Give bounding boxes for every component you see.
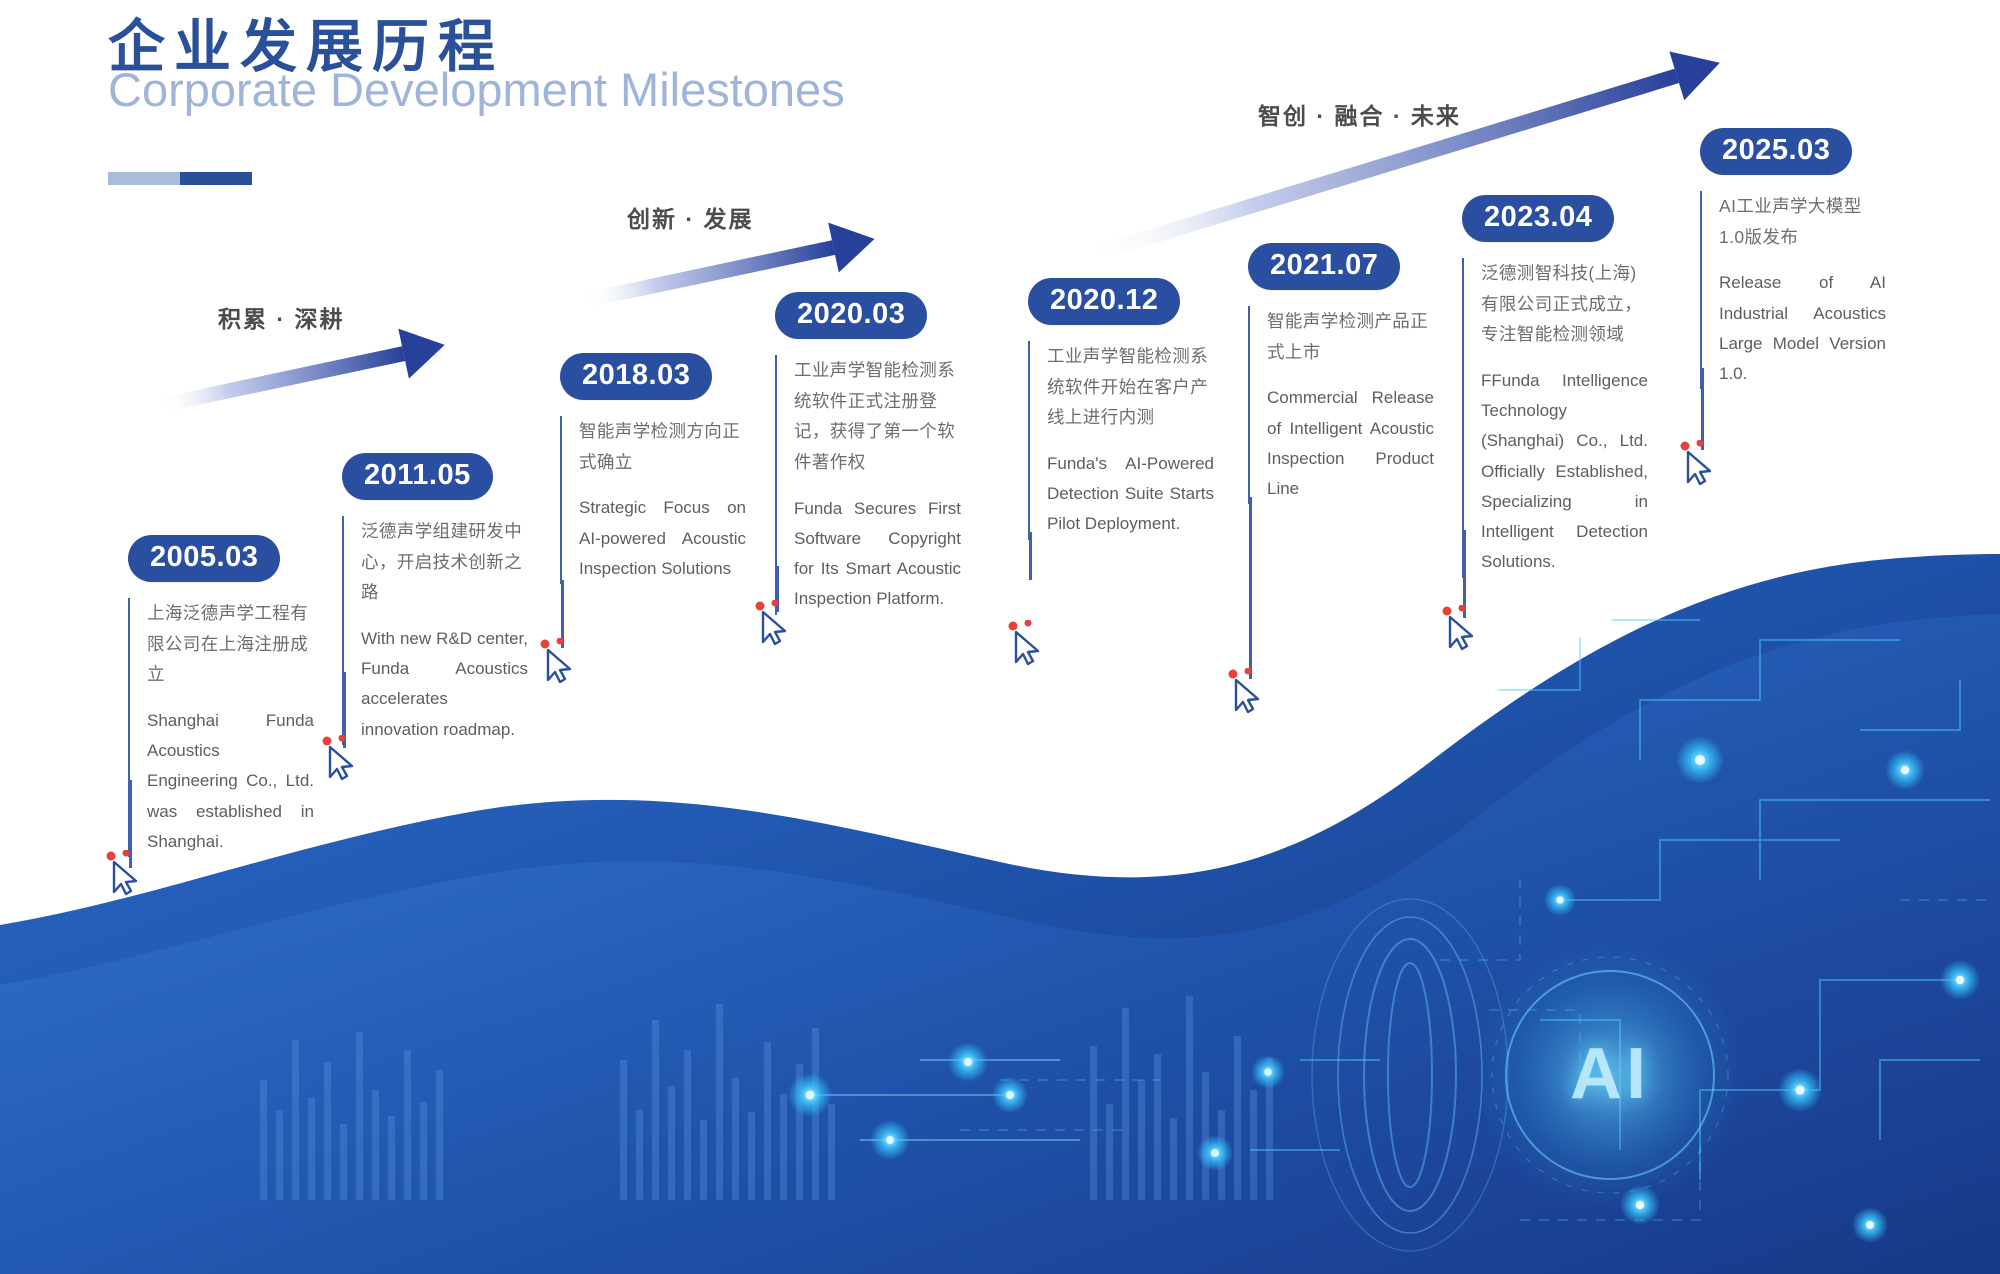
milestone-text-cn: AI工业声学大模型1.0版发布 bbox=[1719, 191, 1886, 252]
milestone-text-cn: 智能声学检测产品正式上市 bbox=[1267, 306, 1434, 367]
milestone-date-badge[interactable]: 2018.03 bbox=[560, 353, 712, 400]
milestone-text-en: With new R&D center, Funda Acoustics acc… bbox=[361, 624, 528, 745]
milestone-date-badge[interactable]: 2025.03 bbox=[1700, 128, 1852, 175]
milestone-date-badge[interactable]: 2011.05 bbox=[342, 453, 493, 500]
cursor-marker-2018 bbox=[538, 638, 578, 684]
milestone-body: 工业声学智能检测系统软件正式注册登记，获得了第一个软件著作权 Funda Sec… bbox=[775, 355, 961, 615]
milestone-text-cn: 泛德测智科技(上海)有限公司正式成立，专注智能检测领域 bbox=[1481, 258, 1648, 350]
cursor-marker-2011 bbox=[320, 735, 360, 781]
milestone-text-cn: 工业声学智能检测系统软件正式注册登记，获得了第一个软件著作权 bbox=[794, 355, 961, 478]
milestone-body: AI工业声学大模型1.0版发布 Release of AI Industrial… bbox=[1700, 191, 1886, 389]
milestone-2020-03[interactable]: 2020.03 工业声学智能检测系统软件正式注册登记，获得了第一个软件著作权 F… bbox=[775, 292, 961, 615]
title-rule-dark bbox=[180, 172, 252, 185]
milestone-text-cn: 智能声学检测方向正式确立 bbox=[579, 416, 746, 477]
cursor-marker-2020-12 bbox=[1006, 620, 1046, 666]
page-title-en: Corporate Development Milestones bbox=[108, 66, 845, 113]
milestone-body: 智能声学检测产品正式上市 Commercial Release of Intel… bbox=[1248, 306, 1434, 504]
milestone-text-en: Funda Secures First Software Copyright f… bbox=[794, 494, 961, 615]
milestone-body: 智能声学检测方向正式确立 Strategic Focus on AI-power… bbox=[560, 416, 746, 584]
cursor-marker-2005 bbox=[104, 850, 144, 896]
milestone-stem-2021 bbox=[1249, 497, 1252, 679]
ai-badge-text: AI bbox=[1530, 1022, 1690, 1126]
milestone-2023-04[interactable]: 2023.04 泛德测智科技(上海)有限公司正式成立，专注智能检测领域 FFun… bbox=[1462, 195, 1648, 578]
milestone-date-badge[interactable]: 2005.03 bbox=[128, 535, 280, 582]
milestone-body: 工业声学智能检测系统软件开始在客户产线上进行内测 Funda's AI-Powe… bbox=[1028, 341, 1214, 540]
milestone-2020-12[interactable]: 2020.12 工业声学智能检测系统软件开始在客户产线上进行内测 Funda's… bbox=[1028, 278, 1214, 540]
phase-tagline-3: 智创 · 融合 · 未来 bbox=[1258, 97, 1461, 131]
milestone-text-en: FFunda Intelligence Technology (Shanghai… bbox=[1481, 366, 1648, 578]
title-rule-light bbox=[108, 172, 180, 185]
milestone-text-en: Release of AI Industrial Acoustics Large… bbox=[1719, 268, 1886, 389]
milestone-text-en: Strategic Focus on AI-powered Acoustic I… bbox=[579, 493, 746, 584]
milestone-2005-03[interactable]: 2005.03 上海泛德声学工程有限公司在上海注册成立 Shanghai Fun… bbox=[128, 535, 314, 857]
milestone-text-cn: 泛德声学组建研发中心，开启技术创新之路 bbox=[361, 516, 528, 608]
milestone-2025-03[interactable]: 2025.03 AI工业声学大模型1.0版发布 Release of AI In… bbox=[1700, 128, 1886, 389]
cursor-marker-2021 bbox=[1226, 668, 1266, 714]
milestone-2011-05[interactable]: 2011.05 泛德声学组建研发中心，开启技术创新之路 With new R&D… bbox=[342, 453, 528, 745]
milestone-text-en: Commercial Release of Intelligent Acoust… bbox=[1267, 383, 1434, 504]
milestone-text-cn: 上海泛德声学工程有限公司在上海注册成立 bbox=[147, 598, 314, 690]
milestone-2018-03[interactable]: 2018.03 智能声学检测方向正式确立 Strategic Focus on … bbox=[560, 353, 746, 584]
phase-tagline-2: 创新 · 发展 bbox=[627, 200, 753, 234]
phase-tagline-1: 积累 · 深耕 bbox=[218, 300, 344, 334]
milestone-date-badge[interactable]: 2021.07 bbox=[1248, 243, 1400, 290]
milestone-body: 泛德声学组建研发中心，开启技术创新之路 With new R&D center,… bbox=[342, 516, 528, 745]
milestone-date-badge[interactable]: 2023.04 bbox=[1462, 195, 1614, 242]
page-header: 企业发展历程 Corporate Development Milestones bbox=[108, 18, 845, 113]
milestone-body: 上海泛德声学工程有限公司在上海注册成立 Shanghai Funda Acous… bbox=[128, 598, 314, 857]
infographic-canvas: 企业发展历程 Corporate Development Milestones … bbox=[0, 0, 2000, 1274]
milestone-text-en: Shanghai Funda Acoustics Engineering Co.… bbox=[147, 706, 314, 857]
milestone-text-cn: 工业声学智能检测系统软件开始在客户产线上进行内测 bbox=[1047, 341, 1214, 433]
milestone-date-badge[interactable]: 2020.12 bbox=[1028, 278, 1180, 325]
milestone-date-badge[interactable]: 2020.03 bbox=[775, 292, 927, 339]
milestone-text-en: Funda's AI-Powered Detection Suite Start… bbox=[1047, 449, 1214, 540]
cursor-marker-2025 bbox=[1678, 440, 1718, 486]
cursor-marker-2020-03 bbox=[753, 600, 793, 646]
milestone-2021-07[interactable]: 2021.07 智能声学检测产品正式上市 Commercial Release … bbox=[1248, 243, 1434, 504]
title-rule bbox=[108, 172, 252, 185]
cursor-marker-2023 bbox=[1440, 605, 1480, 651]
milestone-body: 泛德测智科技(上海)有限公司正式成立，专注智能检测领域 FFunda Intel… bbox=[1462, 258, 1648, 578]
